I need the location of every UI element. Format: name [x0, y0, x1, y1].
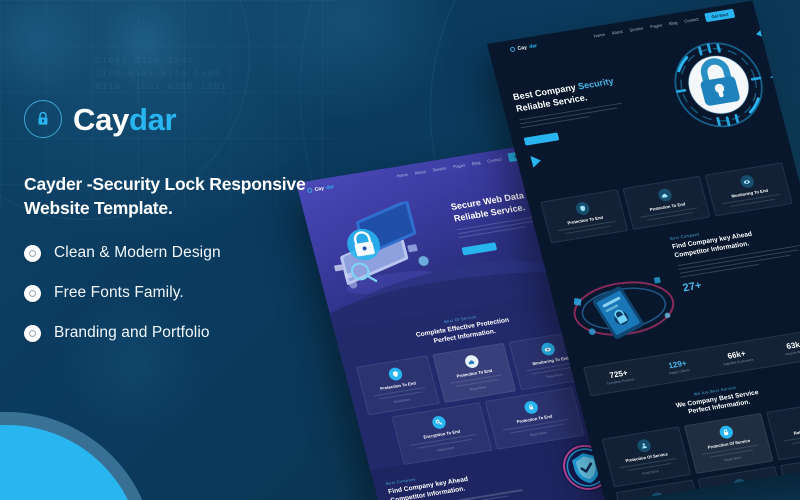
- nav-link[interactable]: Blog: [471, 160, 481, 166]
- card-link[interactable]: Read More: [469, 385, 487, 392]
- cloud-icon: [463, 354, 479, 369]
- nav-link[interactable]: Blog: [668, 20, 678, 26]
- card-link[interactable]: Read More: [642, 469, 660, 476]
- brand-logo: Caydar: [24, 100, 354, 138]
- mockup-right-logo[interactable]: Caydar: [509, 43, 537, 53]
- eye-icon: [540, 342, 556, 357]
- nav-link[interactable]: Pages: [453, 162, 466, 169]
- promo-headline: Cayder -Security Lock Responsive Website…: [24, 172, 334, 220]
- feature-card[interactable]: Protection To End Read More: [432, 343, 516, 403]
- feature-label: Clean & Modern Design: [54, 244, 221, 262]
- stat-item: 66k+ Satisfied Customers: [708, 346, 767, 369]
- feature-item: Clean & Modern Design: [24, 244, 354, 262]
- logo-accent: dar: [528, 43, 537, 50]
- nav-link[interactable]: Home: [593, 32, 605, 39]
- nav-link[interactable]: Service: [629, 26, 644, 33]
- dot-circle-icon: [24, 325, 41, 342]
- about-illustration: [554, 238, 688, 358]
- promo-panel: Caydar Cayder -Security Lock Responsive …: [24, 100, 354, 364]
- triangle-accent: [530, 155, 542, 168]
- dot-circle-icon: [24, 245, 41, 262]
- lock-hud-icon: [661, 33, 775, 137]
- hero-title-accent: Security: [577, 76, 615, 91]
- feature-item: Free Fonts Family.: [24, 284, 354, 302]
- dot-circle-icon: [24, 285, 41, 302]
- brand-name: Caydar: [73, 104, 176, 135]
- nav-link[interactable]: Contact: [487, 156, 503, 163]
- card-link[interactable]: Read More: [724, 456, 742, 463]
- card-title: Protection Of Service: [625, 451, 668, 463]
- nav-link[interactable]: About: [611, 29, 623, 36]
- lock-icon: [523, 400, 539, 415]
- stat-item: 63k+ Awards Winning: [767, 336, 800, 359]
- card-title: Rating Of Service: [793, 425, 800, 436]
- hero-cta-button[interactable]: [524, 132, 560, 145]
- feature-label: Free Fonts Family.: [54, 284, 184, 302]
- lock-icon: [718, 425, 734, 440]
- hero-cta-button[interactable]: [461, 242, 497, 255]
- eye-icon: [739, 174, 755, 189]
- card-link[interactable]: Read More: [393, 398, 411, 405]
- lock-icon: [24, 100, 62, 138]
- cloud-icon: [656, 188, 672, 203]
- brand-name-white: Cay: [73, 102, 129, 137]
- mockup-right-hero-text: Best Company Security Reliable Service.: [512, 76, 630, 151]
- feature-card[interactable]: Protection To End Read More: [356, 355, 440, 415]
- card-title: Protection Of Service: [707, 438, 750, 450]
- service-card[interactable]: Protection Of Service Read More: [602, 426, 692, 487]
- nav-link[interactable]: Contact: [684, 17, 700, 24]
- card-link[interactable]: Read More: [530, 431, 548, 438]
- card-link[interactable]: Read More: [546, 373, 564, 380]
- shield-icon: [387, 367, 403, 382]
- nav-cta-button[interactable]: Get Start: [704, 9, 735, 22]
- nav-link[interactable]: Service: [432, 166, 447, 173]
- feature-item: Branding and Portfolio: [24, 324, 354, 342]
- stat-item: 129+ Happy Clients: [649, 356, 708, 379]
- feature-label: Branding and Portfolio: [54, 324, 210, 342]
- shield-icon: [574, 201, 590, 216]
- key-icon: [431, 415, 447, 430]
- background-glow: [100, 0, 190, 90]
- user-shield-icon: [636, 438, 652, 453]
- nav-link[interactable]: Home: [396, 172, 408, 179]
- stat-item: 725+ Complete Projects: [590, 365, 649, 388]
- lock-icon: [510, 47, 516, 53]
- card-link[interactable]: Read More: [437, 446, 455, 453]
- brand-name-accent: dar: [129, 102, 176, 137]
- service-card[interactable]: Protection Of Service Read More: [684, 413, 774, 474]
- nav-link[interactable]: Pages: [650, 22, 663, 29]
- nav-link[interactable]: About: [414, 169, 426, 176]
- logo-white: Cay: [517, 44, 528, 51]
